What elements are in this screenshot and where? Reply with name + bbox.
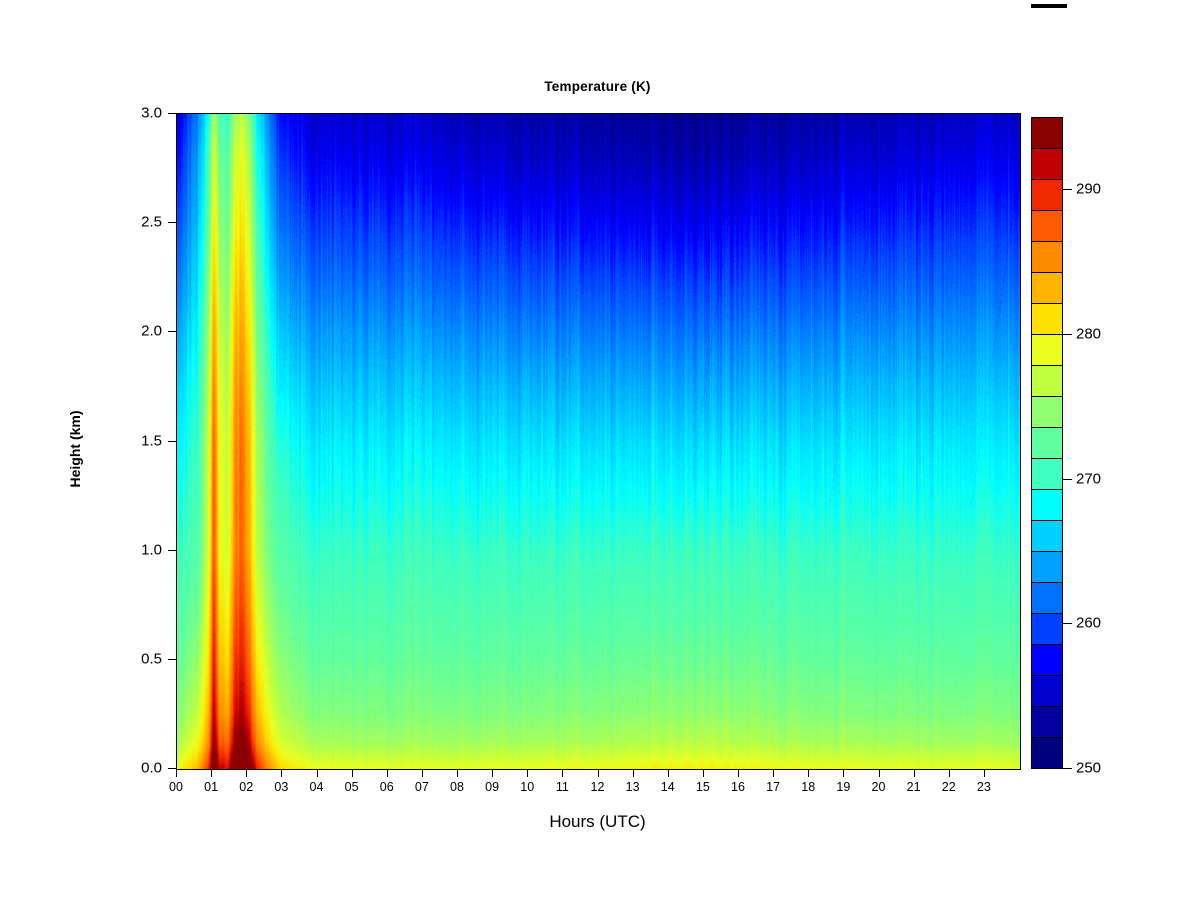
x-tick-mark	[562, 769, 563, 777]
x-tick-mark	[738, 769, 739, 777]
x-tick-label: 01	[204, 780, 218, 794]
page-title: Temperature (K)	[176, 79, 1019, 94]
y-tick-label: 0.5	[118, 650, 162, 667]
x-tick-label: 16	[731, 780, 745, 794]
x-tick-mark	[317, 769, 318, 777]
colorbar-band	[1031, 551, 1063, 583]
colorbar-tick-mark	[1063, 623, 1072, 624]
colorbar-band	[1031, 582, 1063, 614]
x-tick-label: 20	[872, 780, 886, 794]
x-tick-mark	[703, 769, 704, 777]
x-tick-label: 03	[274, 780, 288, 794]
x-tick-mark	[246, 769, 247, 777]
x-tick-label: 02	[239, 780, 253, 794]
x-tick-label: 11	[556, 780, 569, 794]
y-axis-title: Height (km)	[67, 369, 83, 529]
x-tick-label: 22	[942, 780, 956, 794]
colorbar-band	[1031, 706, 1063, 738]
colorbar-band	[1031, 520, 1063, 552]
x-tick-mark	[387, 769, 388, 777]
colorbar-band	[1031, 396, 1063, 428]
colorbar-band	[1031, 613, 1063, 645]
y-tick-label: 0.0	[118, 760, 162, 777]
colorbar-band	[1031, 241, 1063, 273]
x-tick-label: 04	[310, 780, 324, 794]
x-tick-mark	[879, 769, 880, 777]
x-tick-mark	[352, 769, 353, 777]
x-tick-label: 13	[626, 780, 640, 794]
colorbar-tick-label: 290	[1076, 181, 1101, 198]
colorbar	[1031, 117, 1063, 768]
x-tick-mark	[457, 769, 458, 777]
temperature-heatmap	[177, 114, 1020, 769]
y-tick-label: 1.5	[118, 432, 162, 449]
x-tick-label: 17	[766, 780, 780, 794]
x-tick-label: 00	[169, 780, 183, 794]
colorbar-band	[1031, 210, 1063, 242]
x-tick-mark	[281, 769, 282, 777]
x-tick-mark	[422, 769, 423, 777]
colorbar-tick-label: 260	[1076, 615, 1101, 632]
x-tick-mark	[984, 769, 985, 777]
x-tick-label: 14	[661, 780, 675, 794]
x-tick-mark	[949, 769, 950, 777]
top-right-artifact-bar	[1031, 4, 1067, 8]
y-tick-mark	[168, 550, 176, 551]
colorbar-tick-label: 280	[1076, 326, 1101, 343]
x-tick-mark	[176, 769, 177, 777]
y-tick-mark	[168, 441, 176, 442]
y-tick-mark	[168, 113, 176, 114]
colorbar-band	[1031, 272, 1063, 304]
y-tick-mark	[168, 659, 176, 660]
x-tick-mark	[668, 769, 669, 777]
colorbar-tick-mark	[1063, 334, 1072, 335]
colorbar-band	[1031, 427, 1063, 459]
x-tick-label: 08	[450, 780, 464, 794]
colorbar-tick-label: 270	[1076, 470, 1101, 487]
figure-canvas: Temperature (K) Height (km) Hours (UTC) …	[0, 0, 1200, 900]
y-tick-mark	[168, 331, 176, 332]
colorbar-tick-label: 250	[1076, 760, 1101, 777]
y-tick-label: 2.0	[118, 323, 162, 340]
x-tick-mark	[492, 769, 493, 777]
colorbar-band	[1031, 365, 1063, 397]
x-tick-label: 15	[696, 780, 710, 794]
y-tick-label: 3.0	[118, 105, 162, 122]
x-tick-mark	[633, 769, 634, 777]
x-tick-mark	[914, 769, 915, 777]
x-axis-title: Hours (UTC)	[176, 812, 1019, 832]
x-tick-label: 23	[977, 780, 991, 794]
y-tick-mark	[168, 768, 176, 769]
x-tick-label: 07	[415, 780, 429, 794]
x-tick-label: 12	[591, 780, 605, 794]
x-tick-label: 05	[345, 780, 359, 794]
x-tick-mark	[598, 769, 599, 777]
colorbar-band	[1031, 644, 1063, 676]
x-tick-mark	[773, 769, 774, 777]
colorbar-band	[1031, 737, 1063, 769]
x-tick-mark	[211, 769, 212, 777]
x-tick-label: 19	[836, 780, 850, 794]
x-tick-mark	[527, 769, 528, 777]
colorbar-band	[1031, 117, 1063, 149]
colorbar-tick-mark	[1063, 189, 1072, 190]
colorbar-band	[1031, 179, 1063, 211]
colorbar-band	[1031, 334, 1063, 366]
x-tick-mark	[808, 769, 809, 777]
x-tick-mark	[843, 769, 844, 777]
colorbar-band	[1031, 458, 1063, 490]
colorbar-tick-mark	[1063, 479, 1072, 480]
x-tick-label: 18	[801, 780, 815, 794]
heatmap-plot-area	[176, 113, 1021, 770]
colorbar-band	[1031, 148, 1063, 180]
x-tick-label: 06	[380, 780, 394, 794]
colorbar-band	[1031, 303, 1063, 335]
x-tick-label: 21	[907, 780, 921, 794]
colorbar-tick-mark	[1063, 768, 1072, 769]
colorbar-band	[1031, 675, 1063, 707]
x-tick-label: 10	[520, 780, 534, 794]
y-tick-label: 2.5	[118, 214, 162, 231]
x-tick-label: 09	[485, 780, 499, 794]
colorbar-band	[1031, 489, 1063, 521]
y-tick-label: 1.0	[118, 541, 162, 558]
y-tick-mark	[168, 222, 176, 223]
